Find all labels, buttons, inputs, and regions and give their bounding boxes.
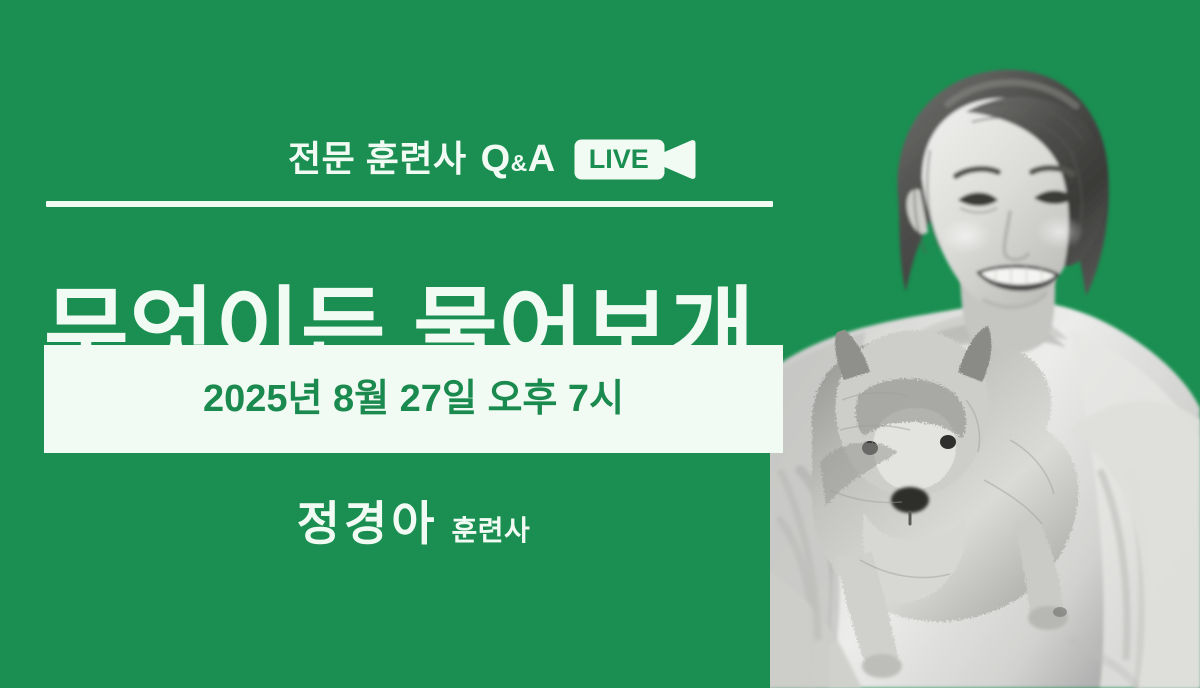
eyebrow-label: 전문 훈련사 — [288, 141, 467, 177]
schedule-date-text: 2025년 8월 27일 오후 7시 — [203, 380, 624, 418]
qa-a: A — [528, 140, 555, 178]
qa-label: Q&A — [481, 140, 555, 178]
presenter-photo-graphic — [770, 0, 1200, 688]
qa-q: Q — [481, 140, 510, 178]
schedule-bar: 2025년 8월 27일 오후 7시 — [44, 345, 783, 453]
banner-content: 전문 훈련사 Q&A LIVE 무엇이든 물어보개 2025년 8월 27일 오… — [0, 0, 800, 688]
live-event-banner: 전문 훈련사 Q&A LIVE 무엇이든 물어보개 2025년 8월 27일 오… — [0, 0, 1200, 688]
presenter-photo — [770, 0, 1200, 688]
presenter-name: 정경아 — [297, 500, 439, 547]
live-badge-text: LIVE — [573, 138, 665, 181]
presenter-row: 정경아 훈련사 — [44, 500, 783, 547]
divider-rule — [46, 201, 773, 207]
qa-ampersand: & — [510, 152, 528, 175]
eyebrow-row: 전문 훈련사 Q&A LIVE — [288, 136, 697, 182]
live-badge: LIVE — [573, 138, 697, 181]
presenter-role: 훈련사 — [451, 517, 530, 545]
